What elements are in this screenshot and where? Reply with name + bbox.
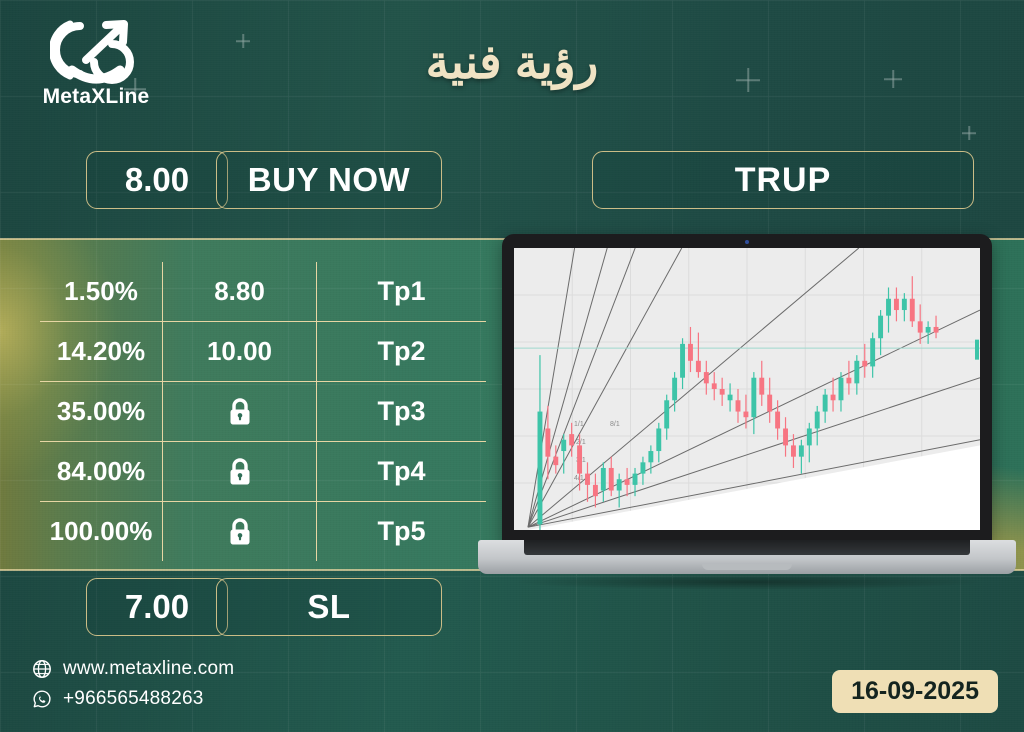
laptop-mockup: 1/12/13/14/18/1 — [478, 234, 1016, 602]
padlock-icon — [227, 397, 253, 427]
footer-contact: www.metaxline.com +966565488263 — [32, 654, 234, 714]
target-name: Tp4 — [317, 456, 486, 487]
target-price-locked — [162, 442, 317, 501]
laptop-camera-icon — [745, 240, 749, 244]
svg-text:8/1: 8/1 — [610, 421, 620, 428]
trading-signal-poster: MetaXLine رؤية فنية 8.00 BUY NOW TRUP 1.… — [0, 0, 1024, 732]
target-percent: 14.20% — [40, 336, 162, 367]
padlock-icon — [227, 517, 253, 547]
stop-loss-price: 7.00 — [86, 578, 228, 636]
candlestick-chart: 1/12/13/14/18/1 — [514, 248, 980, 530]
table-row: 84.00%Tp4 — [40, 442, 486, 502]
laptop-lid: 1/12/13/14/18/1 — [502, 234, 992, 544]
entry-signal-row: 8.00 BUY NOW — [86, 151, 442, 209]
globe-icon — [32, 659, 52, 679]
targets-table: 1.50%8.80Tp114.20%10.00Tp235.00%Tp384.00… — [40, 262, 486, 561]
svg-text:1/1: 1/1 — [574, 421, 584, 428]
laptop-shadow — [518, 574, 978, 590]
website-url: www.metaxline.com — [63, 658, 234, 680]
table-row: 35.00%Tp3 — [40, 382, 486, 442]
stop-loss-row: 7.00 SL — [86, 578, 442, 636]
target-percent: 35.00% — [40, 396, 162, 427]
laptop-notch — [702, 564, 792, 570]
laptop-screen: 1/12/13/14/18/1 — [514, 248, 980, 530]
phone-number: +966565488263 — [63, 688, 204, 710]
table-row: 14.20%10.00Tp2 — [40, 322, 486, 382]
phone-line[interactable]: +966565488263 — [32, 684, 234, 714]
ticker-symbol: TRUP — [592, 151, 974, 209]
target-price: 10.00 — [162, 322, 317, 381]
target-price-locked — [162, 382, 317, 441]
whatsapp-icon — [32, 689, 52, 709]
buy-now-button[interactable]: BUY NOW — [216, 151, 442, 209]
website-line[interactable]: www.metaxline.com — [32, 654, 234, 684]
stop-loss-label: SL — [216, 578, 442, 636]
padlock-icon — [227, 457, 253, 487]
entry-price: 8.00 — [86, 151, 228, 209]
laptop-keyboard-deck — [524, 540, 970, 555]
target-name: Tp5 — [317, 516, 486, 547]
target-percent: 84.00% — [40, 456, 162, 487]
date-badge: 16-09-2025 — [832, 670, 998, 713]
target-percent: 100.00% — [40, 516, 162, 547]
svg-text:2/1: 2/1 — [576, 439, 586, 446]
target-name: Tp1 — [317, 276, 486, 307]
table-row: 1.50%8.80Tp1 — [40, 262, 486, 322]
table-row: 100.00%Tp5 — [40, 502, 486, 561]
target-percent: 1.50% — [40, 276, 162, 307]
svg-text:4/1: 4/1 — [574, 475, 584, 482]
target-name: Tp2 — [317, 336, 486, 367]
target-price-locked — [162, 502, 317, 561]
target-price: 8.80 — [162, 262, 317, 321]
page-title: رؤية فنية — [0, 34, 1024, 90]
target-name: Tp3 — [317, 396, 486, 427]
